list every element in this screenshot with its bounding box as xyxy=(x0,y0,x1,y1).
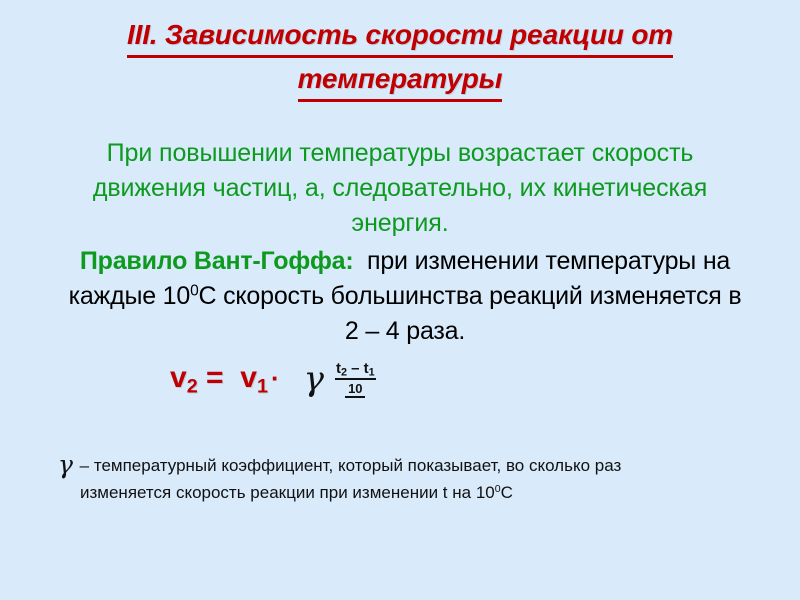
formula-v2-subscript: 2 xyxy=(187,376,198,398)
footnote-gamma-symbol: γ xyxy=(58,450,75,479)
vanthoff-text-3: С скорость большинства реакций xyxy=(199,282,583,310)
exponent-numerator: t2 – t1 xyxy=(335,360,376,380)
vanthoff-rule-label: Правило Вант-Гоффа: xyxy=(80,247,354,275)
footnote-line-2: изменяется скорость реакции при изменени… xyxy=(58,479,718,506)
vanthoff-rule-paragraph: Правило Вант-Гоффа: при изменении темпер… xyxy=(60,244,750,349)
formula-equals: = xyxy=(206,361,224,394)
vanthoff-text-part-1 xyxy=(354,247,368,275)
footnote-line-2-text: изменяется скорость реакции при изменени… xyxy=(80,483,495,502)
formula-multiply-dot: · xyxy=(271,358,280,398)
page-title: III. Зависимость скорости реакции от тем… xyxy=(60,14,740,102)
degree-superscript-rule: 0 xyxy=(190,282,198,299)
formula-exponent: t2 – t1 10 xyxy=(335,360,376,398)
gamma-symbol: γ xyxy=(304,359,324,399)
intro-line-1: При повышении температуры возрастает ско… xyxy=(107,139,694,167)
title-line-2-text: температуры xyxy=(298,58,503,102)
formula-left-side: v2 = v1 xyxy=(170,358,268,398)
footnote: γ – температурный коэффициент, который п… xyxy=(58,452,718,506)
intro-paragraph: При повышении температуры возрастает ско… xyxy=(62,136,738,241)
formula-v2-letter: v xyxy=(170,361,187,394)
title-line-1: III. Зависимость скорости реакции от xyxy=(60,14,740,58)
exponent-minus: – xyxy=(347,360,364,377)
formula-v1-letter: v xyxy=(240,361,257,394)
footnote-line-1: – температурный коэффициент, который пок… xyxy=(75,456,621,475)
exponent-denominator: 10 xyxy=(345,380,365,398)
rate-formula: v2 = v1 · γ t2 – t1 10 xyxy=(170,358,376,420)
slide-canvas: III. Зависимость скорости реакции от тем… xyxy=(0,0,800,600)
exponent-t1-subscript: 1 xyxy=(369,367,375,379)
intro-line-2: движения частиц, а, следовательно, их xyxy=(93,174,546,202)
title-line-2: температуры xyxy=(60,58,740,102)
formula-v1-subscript: 1 xyxy=(257,376,268,398)
title-line-1-text: III. Зависимость скорости реакции от xyxy=(127,14,673,58)
footnote-line-2-suffix: С xyxy=(501,483,513,502)
vanthoff-text-1: при изменении температуры xyxy=(367,247,696,275)
